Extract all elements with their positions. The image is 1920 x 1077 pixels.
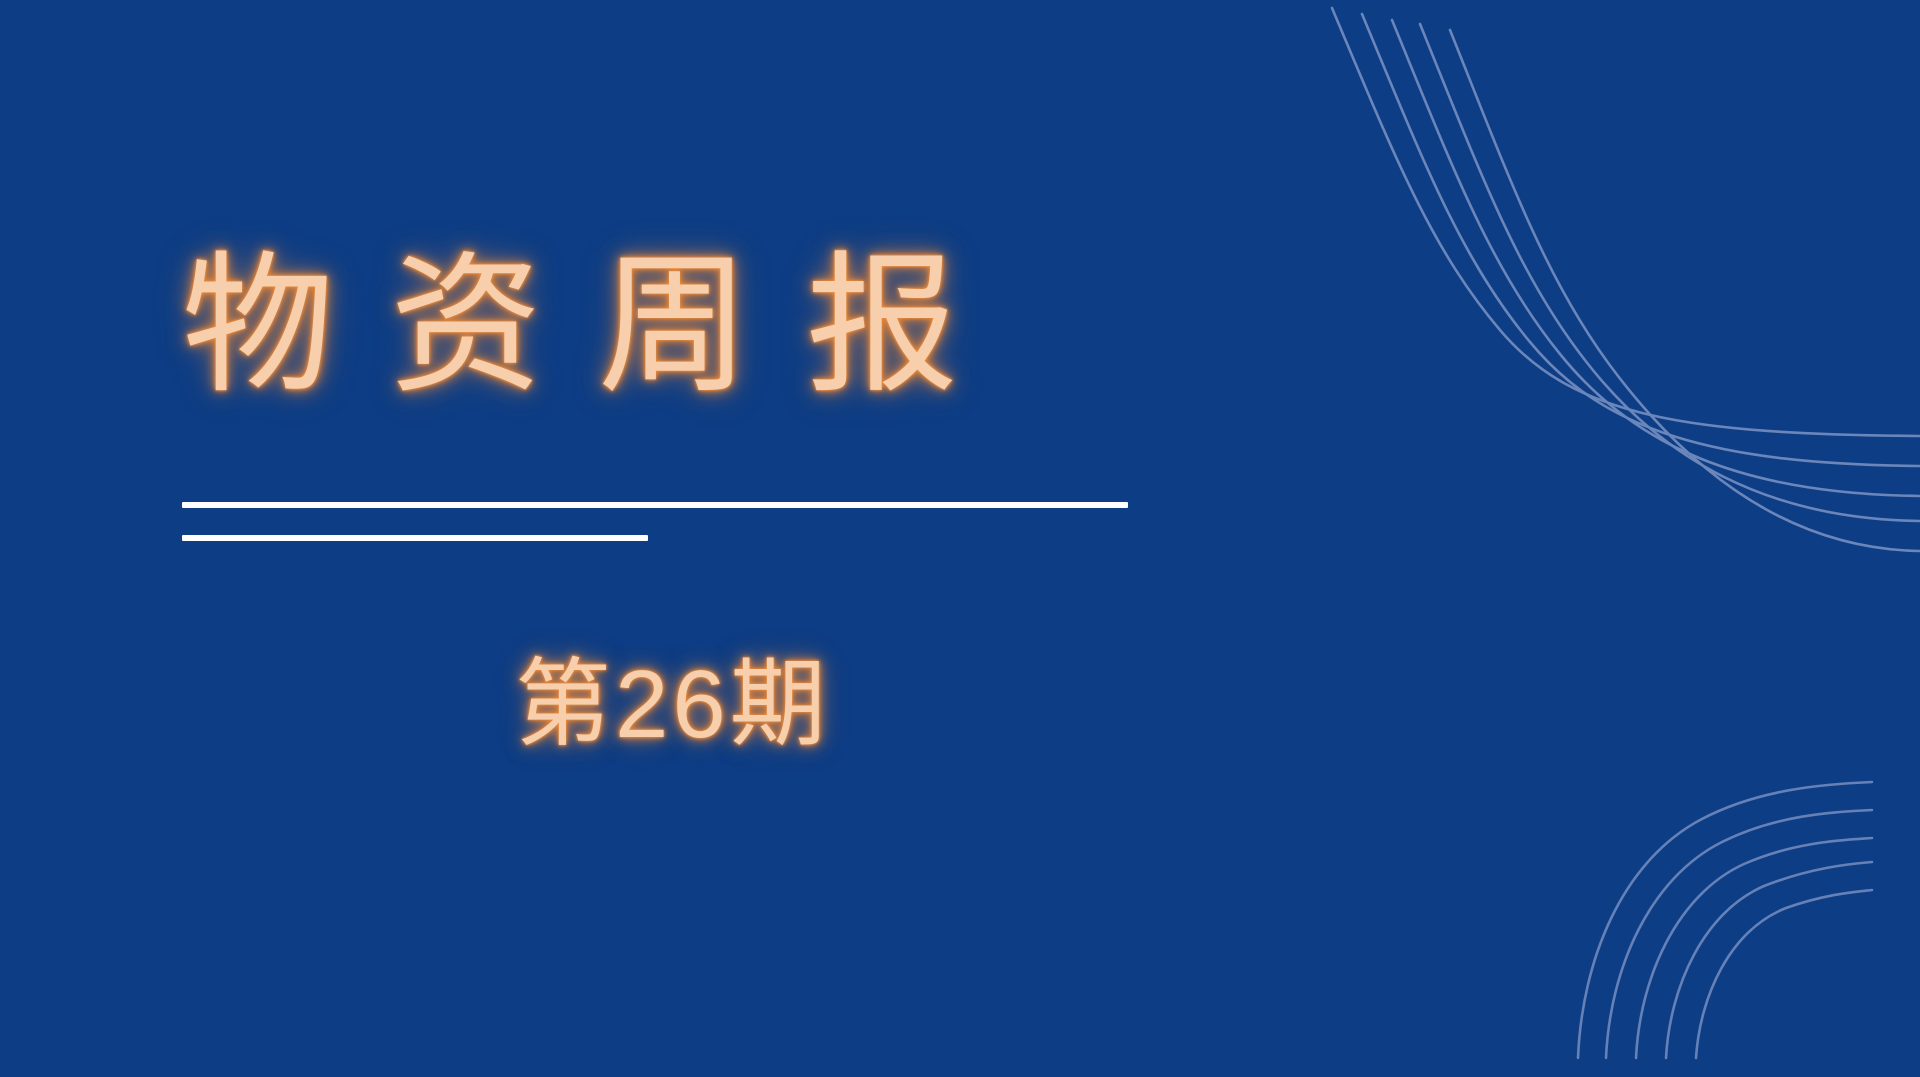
title-underline-short <box>182 535 648 541</box>
issue-number-subtitle: 第26期 <box>515 650 830 760</box>
title-block: 物资周报 <box>182 250 1014 402</box>
page-title: 物资周报 <box>182 250 1014 402</box>
title-slide: 物资周报 第26期 <box>0 0 1920 1077</box>
title-underline-long <box>182 502 1128 508</box>
